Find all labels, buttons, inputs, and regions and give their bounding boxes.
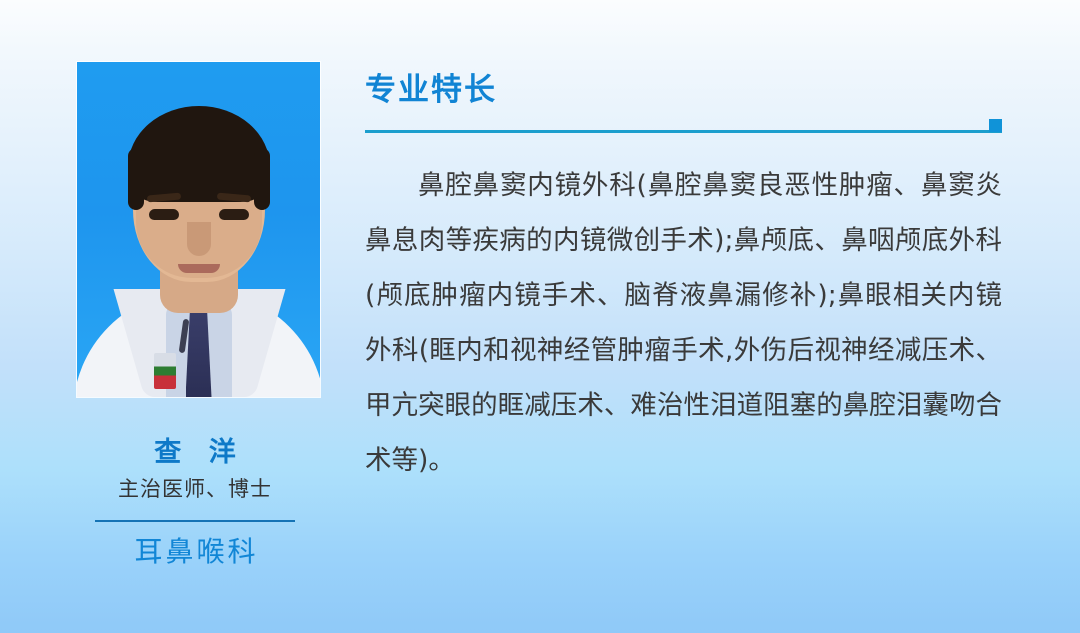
portrait-hair (128, 106, 270, 202)
specialty-body-text: 鼻腔鼻窦内镜外科(鼻腔鼻窦良恶性肿瘤、鼻窦炎鼻息肉等疾病的内镜微创手术);鼻颅底… (365, 158, 1002, 488)
portrait-eye-right (219, 209, 249, 220)
profile-divider (95, 520, 295, 522)
title-rule-line (365, 130, 1002, 133)
portrait-hair-left (128, 148, 144, 210)
doctor-profile-card: 查 洋 主治医师、博士 耳鼻喉科 专业特长 鼻腔鼻窦内镜外科(鼻腔鼻窦良恶性肿瘤… (0, 0, 1080, 633)
section-title-underline (365, 120, 1002, 136)
doctor-credentials: 主治医师、博士 (60, 476, 330, 503)
doctor-department: 耳鼻喉科 (60, 532, 330, 573)
section-title: 专业特长 (365, 70, 1002, 112)
title-square-marker-icon (989, 119, 1002, 132)
portrait-mouth (178, 264, 220, 273)
portrait-eye-left (149, 209, 179, 220)
doctor-photo (77, 62, 320, 397)
portrait-hair-right (254, 148, 270, 210)
portrait-id-badge (154, 353, 176, 389)
portrait-nose (187, 222, 211, 256)
doctor-name: 查 洋 (60, 437, 330, 469)
content-column: 专业特长 鼻腔鼻窦内镜外科(鼻腔鼻窦良恶性肿瘤、鼻窦炎鼻息肉等疾病的内镜微创手术… (365, 70, 1002, 488)
portrait-illustration (77, 62, 320, 397)
